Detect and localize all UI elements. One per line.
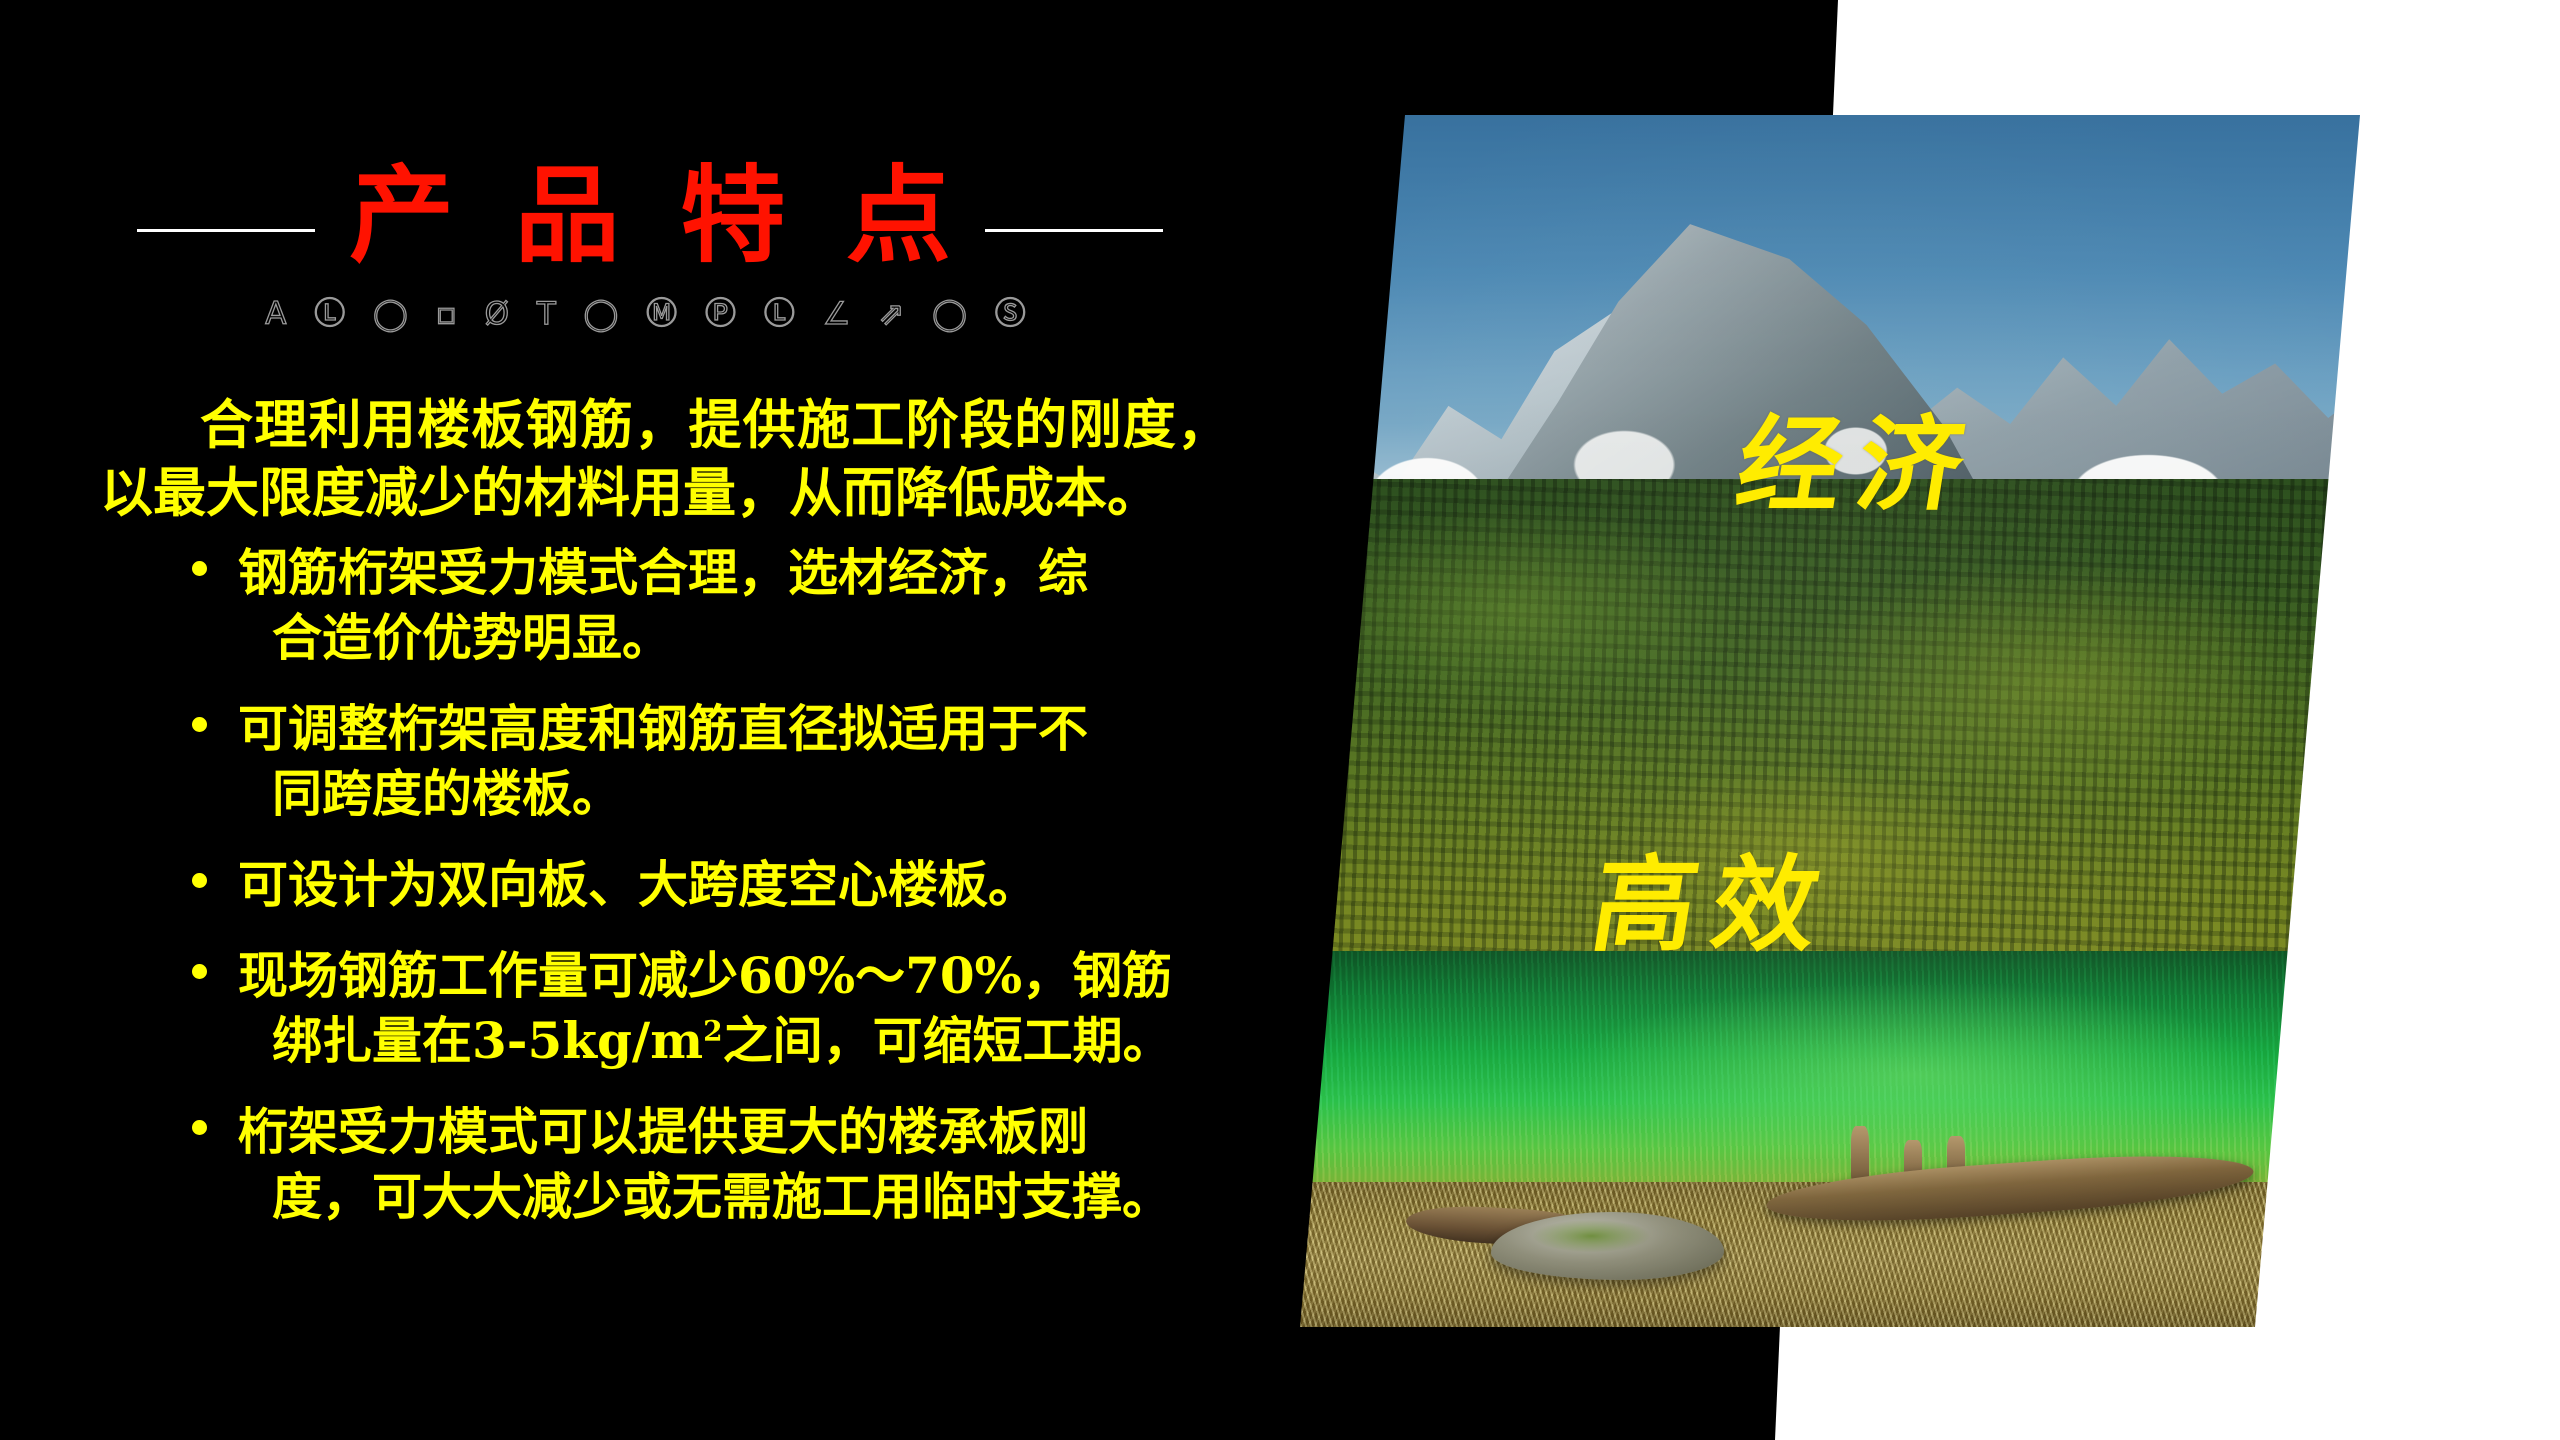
bullet-line-2: 同跨度的楼板。: [238, 761, 1250, 826]
photo-caption-economy: 经济: [1728, 380, 1992, 531]
bullet-dot-icon: [192, 561, 207, 576]
list-item: 可调整桁架高度和钢筋直径拟适用于不 同跨度的楼板。: [190, 696, 1250, 826]
bullet-line-1: 可调整桁架高度和钢筋直径拟适用于不: [238, 699, 1088, 758]
bullet-line-1: 可设计为双向板、大跨度空心楼板。: [238, 855, 1038, 914]
bullet-dot-icon: [192, 873, 207, 888]
intro-paragraph: 合理利用楼板钢筋，提供施工阶段的刚度，以最大限度减少的材料用量，从而降低成本。: [100, 392, 1230, 528]
bullet-dot-icon: [192, 964, 207, 979]
page-title-row: 产 品 特 点: [0, 178, 1300, 283]
list-item: 钢筋桁架受力模式合理，选材经济，综 合造价优势明显。: [190, 540, 1250, 670]
unit-superscript: 2: [703, 1014, 722, 1047]
page-title: 产 品 特 点: [337, 164, 963, 269]
bullet-line-2: 合造价优势明显。: [238, 605, 1250, 670]
left-content-column: 产 品 特 点 A Ⓛ ◯ ▫ Ø T ◯ Ⓜ Ⓟ Ⓛ ∠ ⇗ ◯ Ⓢ 合理利用…: [0, 0, 1300, 1440]
bullet-line-1: 现场钢筋工作量可减少60%～70%，钢筋: [238, 946, 1172, 1005]
mountain-lake-photo: [1300, 115, 2360, 1327]
bullet-line-1: 桁架受力模式可以提供更大的楼承板刚: [238, 1102, 1088, 1161]
bullet-line-2: 度，可大大减少或无需施工用临时支撑。: [238, 1164, 1250, 1229]
feature-bullet-list: 钢筋桁架受力模式合理，选材经济，综 合造价优势明显。 可调整桁架高度和钢筋直径拟…: [190, 540, 1250, 1255]
decorative-subtitle: A Ⓛ ◯ ▫ Ø T ◯ Ⓜ Ⓟ Ⓛ ∠ ⇗ ◯ Ⓢ: [0, 288, 1300, 333]
list-item: 桁架受力模式可以提供更大的楼承板刚 度，可大大减少或无需施工用临时支撑。: [190, 1099, 1250, 1229]
list-item: 现场钢筋工作量可减少60%～70%，钢筋 绑扎量在3-5kg/m2之间，可缩短工…: [190, 943, 1250, 1073]
photo-color-grade: [1300, 115, 2360, 1327]
bullet-line-2: 绑扎量在3-5kg/m2之间，可缩短工期。: [238, 1008, 1250, 1073]
slide-root: 产 品 特 点 A Ⓛ ◯ ▫ Ø T ◯ Ⓜ Ⓟ Ⓛ ∠ ⇗ ◯ Ⓢ 合理利用…: [0, 0, 2560, 1440]
bullet-line-1: 钢筋桁架受力模式合理，选材经济，综: [238, 543, 1088, 602]
bullet-dot-icon: [192, 717, 207, 732]
title-rule-right: [985, 229, 1163, 232]
bullet-line-2-pre: 绑扎量在3-5kg/m: [272, 1011, 703, 1070]
title-rule-left: [137, 229, 315, 232]
bullet-dot-icon: [192, 1120, 207, 1135]
bullet-line-2-post: 之间，可缩短工期。: [723, 1011, 1173, 1070]
photo-panel: [1300, 115, 2360, 1327]
photo-caption-efficiency: 高效: [1583, 820, 1847, 971]
list-item: 可设计为双向板、大跨度空心楼板。: [190, 852, 1250, 917]
